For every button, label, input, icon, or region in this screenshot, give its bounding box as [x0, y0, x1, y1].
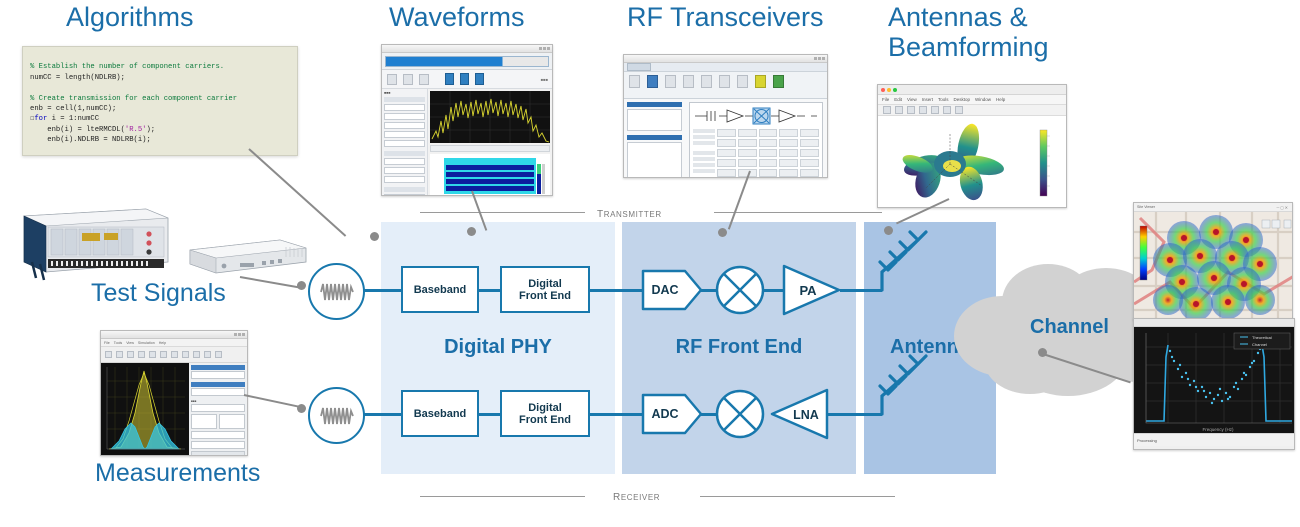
svg-text:Theoretical: Theoretical: [1252, 335, 1272, 340]
tx-pa-block[interactable]: PA: [781, 263, 843, 317]
tx-antenna-icon: [870, 228, 940, 298]
svg-text:ADC: ADC: [651, 407, 678, 421]
leader-dot-test-signals: [297, 281, 306, 290]
leader-dot-measurements: [297, 404, 306, 413]
leader-dot-waveforms: [467, 227, 476, 236]
leader-measurements: [244, 394, 301, 408]
rx-baseband-block[interactable]: Baseband: [401, 390, 479, 437]
wire-rx-src-to-baseband: [362, 413, 404, 416]
rf-chain-diagram: [693, 106, 819, 126]
heading-waveforms: Waveforms: [389, 2, 525, 32]
wire-rx-baseband-to-dfe: [478, 413, 501, 416]
channel-plot-status: Processing: [1137, 438, 1157, 443]
heading-algorithms: Algorithms: [66, 2, 194, 32]
coverage-map-thumbnail: Site Viewer ─◻✕: [1133, 202, 1293, 320]
rx-digital-front-end-block[interactable]: Digital Front End: [500, 390, 590, 437]
leader-dot-channel: [1038, 348, 1047, 357]
rf-transceivers-app-thumbnail: [623, 54, 828, 178]
channel-estimate-thumbnail: TheoreticalChannel Frequency (Hz) Proces…: [1133, 318, 1295, 450]
svg-text:DAC: DAC: [651, 283, 678, 297]
svg-text:LNA: LNA: [793, 408, 819, 422]
panel-label-digital-phy: Digital PHY: [381, 336, 615, 359]
rx-adc-block[interactable]: ADC: [641, 393, 703, 435]
wire-tx-src-to-baseband: [362, 289, 404, 292]
svg-text:Frequency (Hz): Frequency (Hz): [1202, 427, 1234, 432]
waveform-icon: [320, 405, 354, 427]
receiver-rule-right: [700, 496, 895, 497]
antenna-pattern-thumbnail: FileEditViewInsertToolsDesktopWindowHelp: [877, 84, 1067, 208]
tx-signal-source: [308, 263, 365, 320]
transmitter-rule-right: [714, 212, 882, 213]
transmitter-rule-left: [420, 212, 585, 213]
rx-antenna-icon: [870, 352, 940, 422]
wire-tx-mixer-to-pa: [763, 289, 783, 292]
leader-dot-algorithms: [370, 232, 379, 241]
tx-baseband-block[interactable]: Baseband: [401, 266, 479, 313]
label-measurements: Measurements: [95, 459, 260, 488]
channel-label: Channel: [1030, 316, 1109, 339]
coverage-heatmap: [1134, 212, 1293, 320]
rx-mixer[interactable]: [714, 388, 766, 440]
waveform-icon: [320, 281, 354, 303]
wire-tx-baseband-to-dfe: [478, 289, 501, 292]
spectrum-plot: [430, 91, 550, 143]
leader-dot-rf-transceivers: [718, 228, 727, 237]
tx-dac-block[interactable]: DAC: [641, 269, 703, 311]
heading-antennas-beamforming: Antennas & Beamforming: [888, 2, 1049, 62]
channel-estimate-plot: TheoreticalChannel Frequency (Hz): [1134, 327, 1295, 433]
rx-signal-source: [308, 387, 365, 444]
measurements-app-thumbnail: FileToolsViewSimulationHelp: [100, 330, 248, 456]
tx-mixer[interactable]: [714, 264, 766, 316]
tx-digital-front-end-block[interactable]: Digital Front End: [500, 266, 590, 313]
panel-label-rf-front-end: RF Front End: [622, 336, 856, 359]
svg-text:PA: PA: [799, 283, 817, 298]
svg-text:Channel: Channel: [1252, 342, 1267, 347]
spectrum-analyzer-plot: [101, 363, 189, 455]
algorithms-code-thumbnail: % Establish the number of component carr…: [22, 46, 298, 156]
leader-dot-antennas: [884, 226, 893, 235]
spectrogram-plot: [430, 154, 550, 196]
wire-rx-dfe-to-adc: [589, 413, 643, 416]
test-signals-hardware: [18, 200, 308, 285]
rx-lna-block[interactable]: LNA: [768, 387, 830, 441]
transmitter-label: Transmitter: [597, 204, 662, 220]
3d-radiation-pattern: [878, 116, 1067, 208]
wire-tx-dfe-to-dac: [589, 289, 643, 292]
receiver-label: Receiver: [613, 487, 660, 503]
heading-rf-transceivers: RF Transceivers: [627, 2, 824, 32]
receiver-rule-left: [420, 496, 585, 497]
waveforms-app-thumbnail: ■■■ ■■■: [381, 44, 553, 196]
leader-rf-transceivers: [728, 171, 751, 230]
diagram-canvas: Algorithms Waveforms RF Transceivers Ant…: [0, 0, 1300, 527]
